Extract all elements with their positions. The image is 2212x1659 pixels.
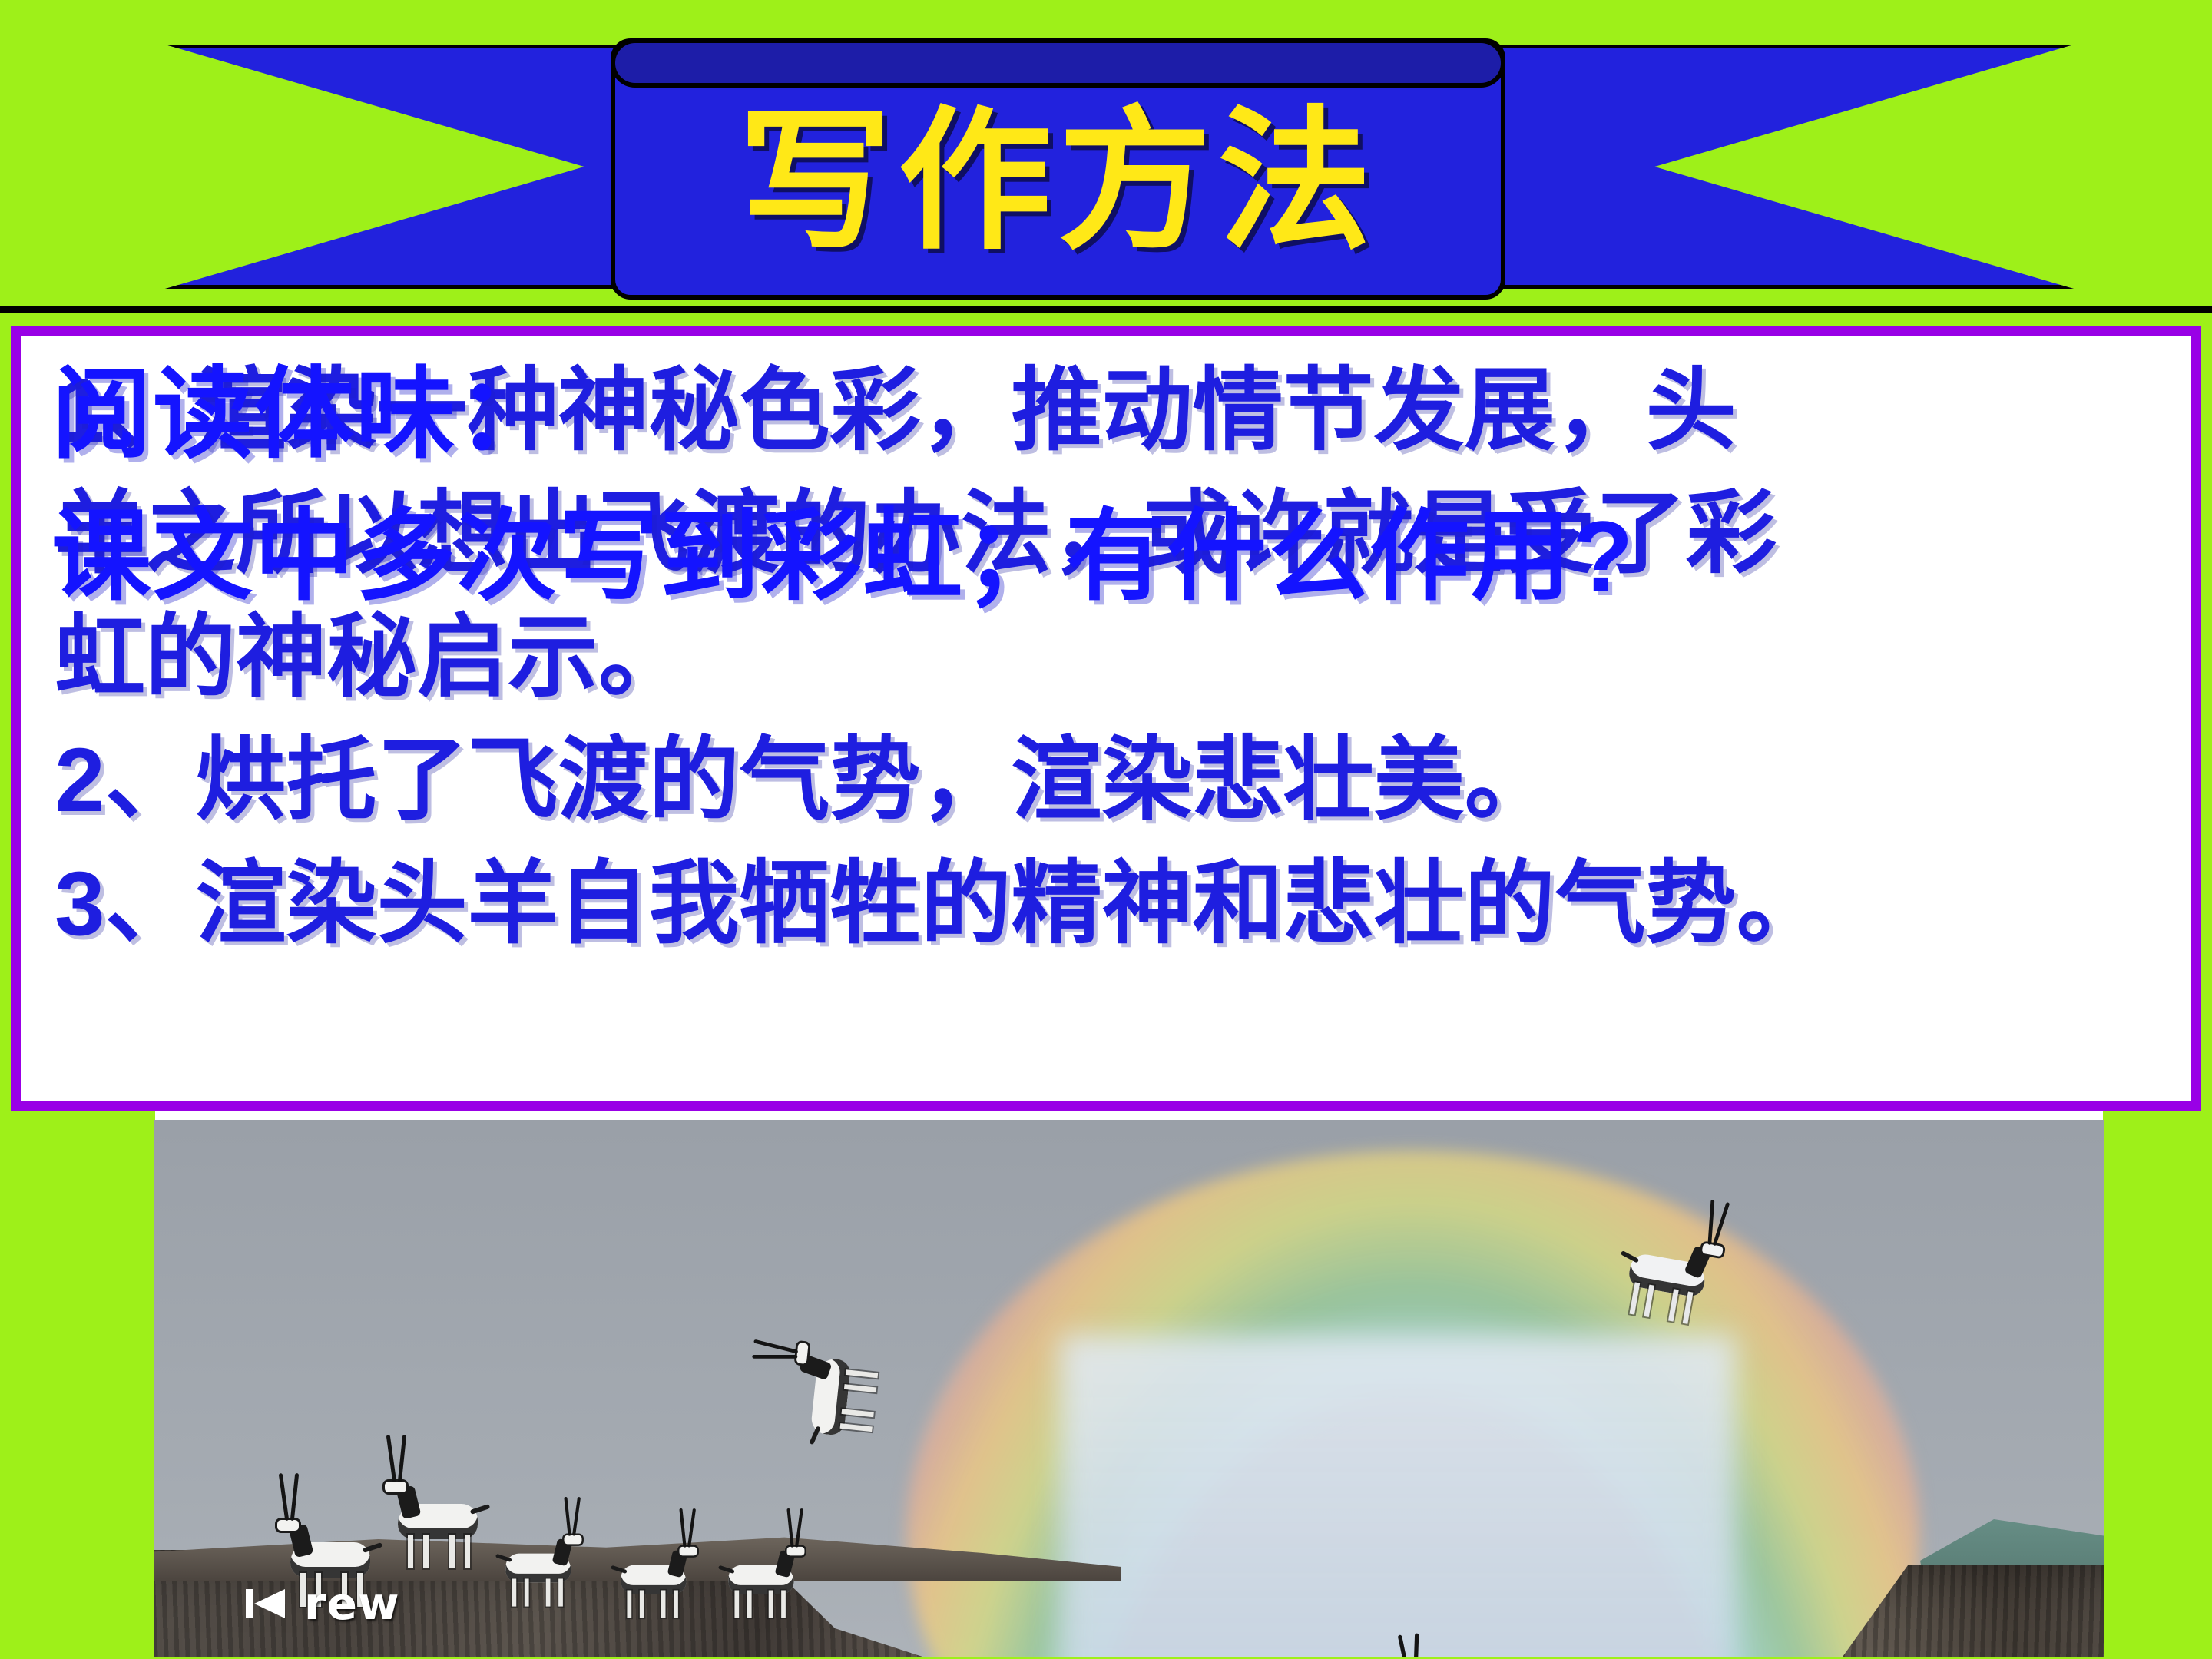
antelope-herd-member xyxy=(610,1546,704,1617)
question-overlay: 阅读体味： 课文中多次写到彩虹；有什么作用? xyxy=(51,343,2187,627)
rewind-label[interactable]: rew xyxy=(304,1578,400,1630)
question-heading: 阅读体味： xyxy=(51,343,2187,485)
answer-line-4: 2、烘托了飞渡的气势，渲染悲壮美。 xyxy=(55,719,2174,842)
antelope-herd-member xyxy=(376,1481,492,1567)
header-divider xyxy=(0,306,2212,313)
player-controls[interactable]: rew xyxy=(246,1578,400,1630)
antelope-lead-ram xyxy=(787,1335,880,1452)
rewind-icon[interactable] xyxy=(246,1586,287,1621)
content-panel: 1、渲染一种神秘色彩，推动情节发展，头 羊之所以想出飞渡的办法，或许就是受了彩 … xyxy=(11,326,2201,1111)
green-strip-left xyxy=(0,1111,155,1659)
green-strip-right xyxy=(2103,1111,2212,1659)
photo-backdrop xyxy=(154,1120,2104,1657)
answer-line-5: 3、渲染头羊自我牺牲的精神和悲壮的气势。 xyxy=(55,843,2174,965)
page-title: 写作方法 xyxy=(611,71,1505,293)
canyon-photo: rew xyxy=(154,1120,2104,1657)
slide-root: 写作方法 1、渲染一种神秘色彩，推动情节发展，头 羊之所以想出飞渡的办法，或许就… xyxy=(0,0,2212,1659)
antelope-herd-member xyxy=(495,1535,589,1605)
mist-column xyxy=(1060,1335,1736,1657)
antelope-herd-member xyxy=(717,1546,812,1617)
question-text: 课文中多次写到彩虹；有什么作用? xyxy=(51,485,2187,628)
